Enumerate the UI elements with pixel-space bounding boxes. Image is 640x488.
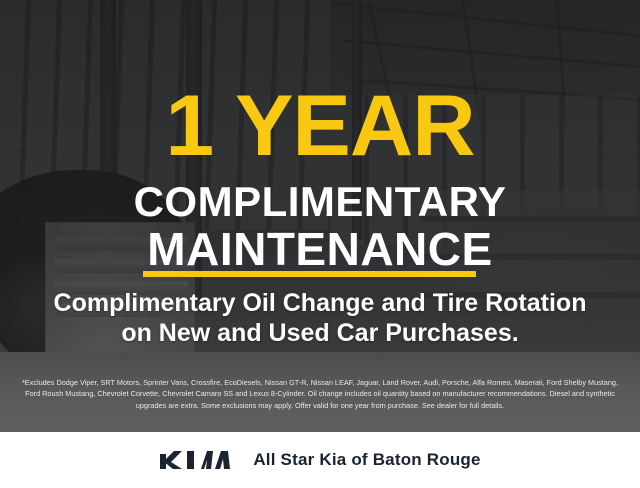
- disclaimer-text: *Excludes Dodge Viper, SRT Motors, Sprin…: [14, 377, 626, 411]
- tagline: Complimentary Oil Change and Tire Rotati…: [0, 288, 640, 348]
- dealer-name: All Star Kia of Baton Rouge: [253, 450, 480, 470]
- subhead-complimentary: COMPLIMENTARY: [0, 181, 640, 223]
- dealer-footer-bar: All Star Kia of Baton Rouge: [0, 432, 640, 488]
- kia-logo: [159, 449, 231, 471]
- ad-copy-layer: 1 YEAR COMPLIMENTARY MAINTENANCE Complim…: [0, 0, 640, 432]
- tagline-line-1: Complimentary Oil Change and Tire Rotati…: [0, 288, 640, 318]
- tagline-line-2: on New and Used Car Purchases.: [0, 318, 640, 348]
- hero-photo-region: 1 YEAR COMPLIMENTARY MAINTENANCE Complim…: [0, 0, 640, 432]
- subhead-maintenance: MAINTENANCE: [0, 226, 640, 272]
- headline-1-year: 1 YEAR: [0, 82, 640, 170]
- advertisement-banner: 1 YEAR COMPLIMENTARY MAINTENANCE Complim…: [0, 0, 640, 488]
- yellow-divider-rule: [143, 271, 476, 277]
